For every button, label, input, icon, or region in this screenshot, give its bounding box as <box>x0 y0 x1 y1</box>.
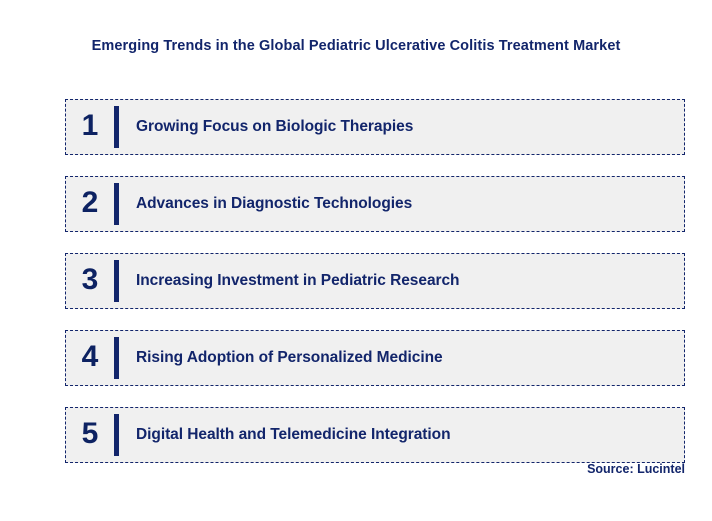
trend-rank: 4 <box>66 342 114 374</box>
source-attribution: Source: Lucintel <box>0 462 685 476</box>
trend-label: Growing Focus on Biologic Therapies <box>119 118 413 136</box>
infographic-canvas: Emerging Trends in the Global Pediatric … <box>0 0 712 521</box>
list-item: 2 Advances in Diagnostic Technologies <box>65 176 685 232</box>
trend-rank: 1 <box>66 111 114 143</box>
trend-label: Rising Adoption of Personalized Medicine <box>119 349 443 367</box>
trend-label: Advances in Diagnostic Technologies <box>119 195 412 213</box>
list-item: 3 Increasing Investment in Pediatric Res… <box>65 253 685 309</box>
list-item: 4 Rising Adoption of Personalized Medici… <box>65 330 685 386</box>
list-item: 1 Growing Focus on Biologic Therapies <box>65 99 685 155</box>
page-title: Emerging Trends in the Global Pediatric … <box>0 38 712 54</box>
trend-rank: 2 <box>66 188 114 220</box>
list-item: 5 Digital Health and Telemedicine Integr… <box>65 407 685 463</box>
trend-rank: 3 <box>66 265 114 297</box>
trend-rank: 5 <box>66 419 114 451</box>
trend-list: 1 Growing Focus on Biologic Therapies 2 … <box>65 99 685 463</box>
trend-label: Increasing Investment in Pediatric Resea… <box>119 272 459 290</box>
trend-label: Digital Health and Telemedicine Integrat… <box>119 426 451 444</box>
